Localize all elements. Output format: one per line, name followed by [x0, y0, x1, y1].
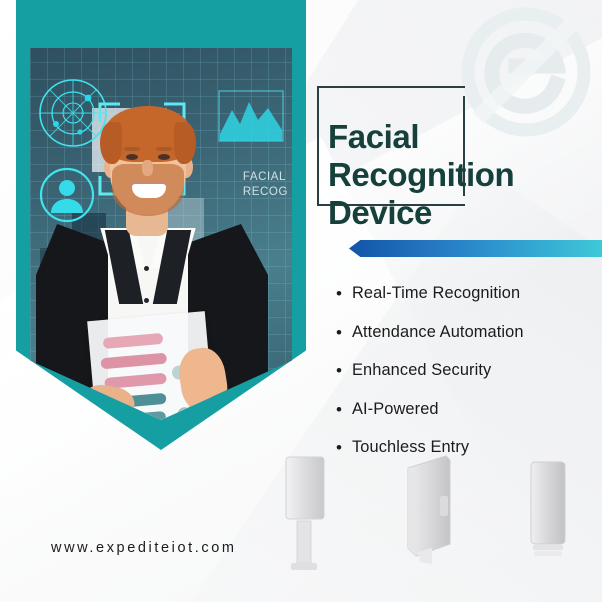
person-hair-side-left [100, 122, 122, 164]
photo-overlay-line-2: RECOG [243, 185, 288, 200]
website-url[interactable]: www.expediteiot.com [51, 540, 237, 556]
photo-overlay-label: FACIAL RECOG [243, 170, 288, 200]
person-shirt-button-1 [144, 266, 149, 271]
feature-label: Enhanced Security [352, 360, 491, 381]
waveform-chart-icon [218, 90, 284, 142]
wall-mount-panel-terminal [402, 452, 454, 566]
bullet-dot-icon: • [336, 283, 352, 304]
bullet-dot-icon: • [336, 360, 352, 381]
title-frame-left [317, 86, 319, 206]
person-eyebrow-right [156, 147, 172, 151]
title-line-3: Device [328, 194, 602, 232]
person-badge-icon [38, 166, 96, 224]
list-item: • AI-Powered [336, 399, 594, 420]
person-eyebrow-left [124, 147, 140, 151]
hero-photo: FACIAL RECOG [30, 48, 292, 420]
hero-photo-frame: FACIAL RECOG [16, 0, 306, 450]
bullet-dot-icon: • [336, 437, 352, 458]
desktop-vertical-terminal [528, 460, 568, 560]
title-line-1: Facial [328, 118, 602, 156]
title-line-2: Recognition [328, 156, 602, 194]
feature-label: AI-Powered [352, 399, 439, 420]
list-item: • Touchless Entry [336, 437, 594, 458]
photo-overlay-line-1: FACIAL [243, 170, 288, 185]
list-item: • Real-Time Recognition [336, 283, 594, 304]
person-eye-right [158, 154, 170, 160]
person-hair-side-right [174, 122, 196, 164]
bullet-dot-icon: • [336, 399, 352, 420]
list-item: • Enhanced Security [336, 360, 594, 381]
feature-list: • Real-Time Recognition • Attendance Aut… [336, 283, 594, 476]
list-item: • Attendance Automation [336, 322, 594, 343]
accent-gradient-bar [349, 240, 602, 257]
person-eye-left [126, 154, 138, 160]
person-smile [132, 184, 166, 198]
person-nose [142, 160, 153, 176]
feature-label: Real-Time Recognition [352, 283, 520, 304]
kiosk-stand-terminal [284, 455, 326, 573]
poster-canvas: FACIAL RECOG [0, 0, 602, 602]
title-frame-top [317, 86, 465, 88]
person-shirt-button-2 [144, 298, 149, 303]
feature-label: Attendance Automation [352, 322, 524, 343]
bullet-dot-icon: • [336, 322, 352, 343]
page-title: Facial Recognition Device [328, 118, 602, 232]
